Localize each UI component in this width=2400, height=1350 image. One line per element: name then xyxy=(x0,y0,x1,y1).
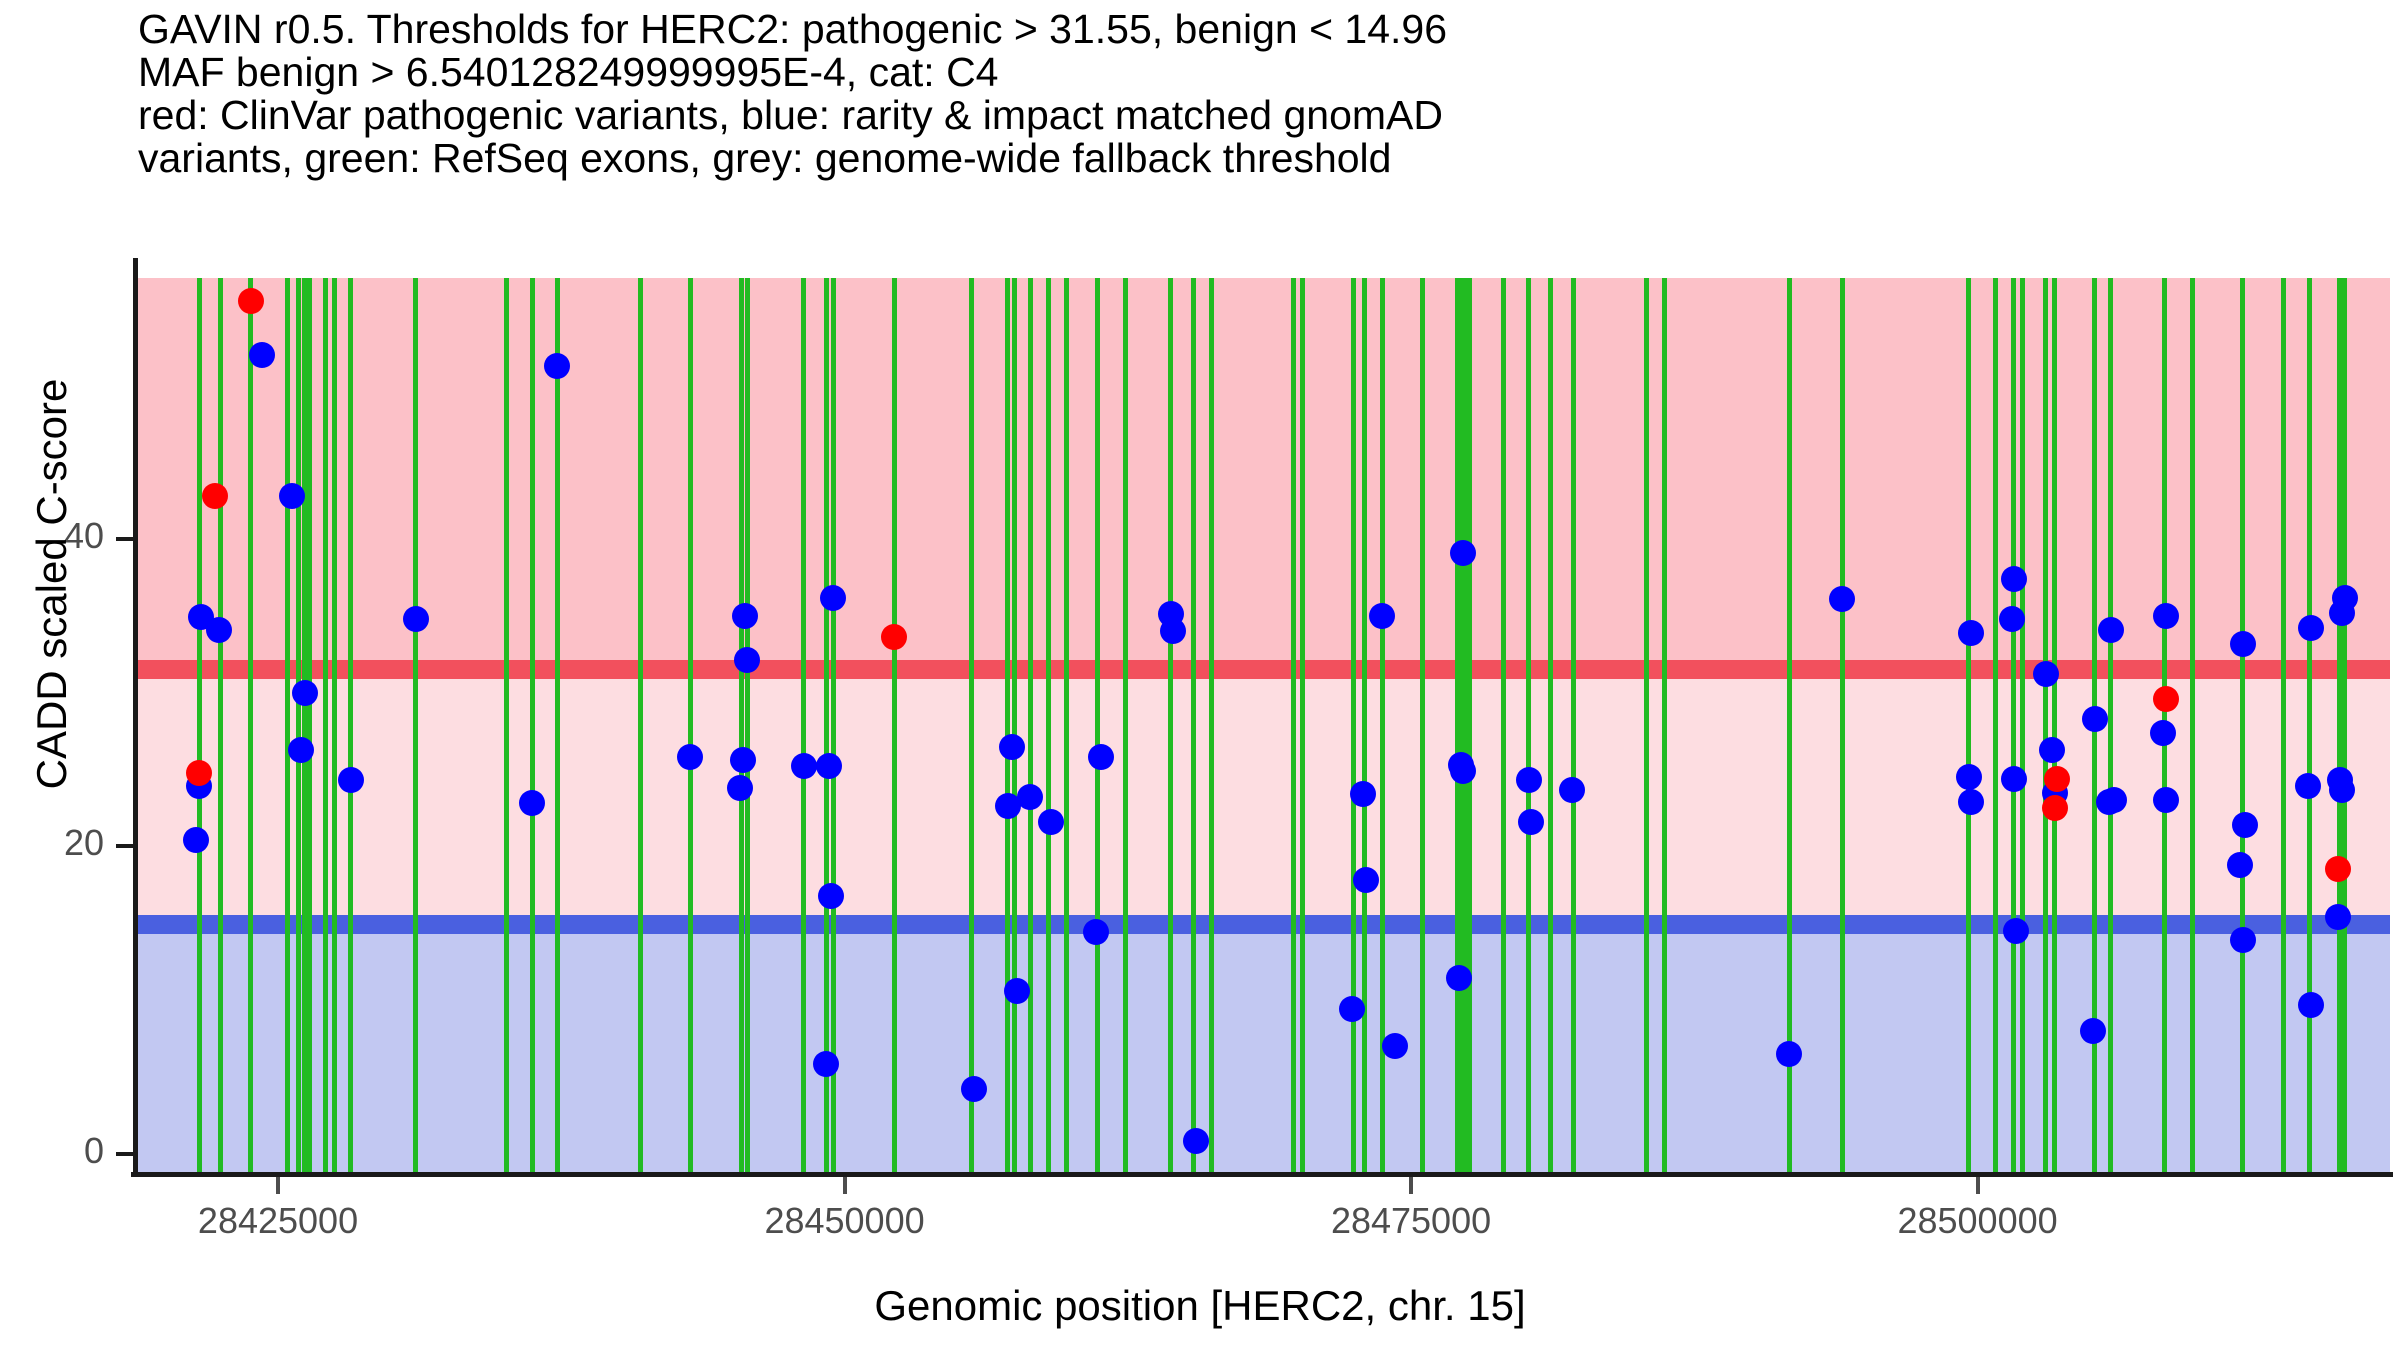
gnomad-variant-point xyxy=(2232,812,2258,838)
gnomad-variant-point xyxy=(999,734,1025,760)
gnomad-variant-point xyxy=(1353,867,1379,893)
y-tick xyxy=(116,844,133,848)
x-tick-label: 28450000 xyxy=(695,1200,995,1242)
gnomad-variant-point xyxy=(1450,540,1476,566)
gnomad-variant-point xyxy=(1999,606,2025,632)
gnomad-variant-point xyxy=(1518,809,1544,835)
y-tick xyxy=(116,537,133,541)
gnomad-variant-point xyxy=(734,647,760,673)
gnomad-variant-point xyxy=(2153,603,2179,629)
x-tick xyxy=(1976,1177,1980,1194)
gnomad-variant-point xyxy=(1958,620,1984,646)
gnomad-variant-point xyxy=(2001,566,2027,592)
gnomad-variant-point xyxy=(1516,767,1542,793)
chart-title-block: GAVIN r0.5. Thresholds for HERC2: pathog… xyxy=(138,8,2288,180)
clinvar-variant-point xyxy=(2044,766,2070,792)
gnomad-variant-point xyxy=(1038,809,1064,835)
gnomad-variant-point xyxy=(727,775,753,801)
gnomad-variant-point xyxy=(1017,784,1043,810)
gnomad-variant-point xyxy=(1450,758,1476,784)
gnomad-variant-point xyxy=(1160,618,1186,644)
clinvar-variant-point xyxy=(881,624,907,650)
x-tick-label: 28475000 xyxy=(1261,1200,1561,1242)
clinvar-variant-point xyxy=(238,288,264,314)
gnomad-variant-point xyxy=(519,790,545,816)
gnomad-variant-point xyxy=(1559,777,1585,803)
gnomad-variant-point xyxy=(2153,787,2179,813)
gnomad-variant-point xyxy=(2329,600,2355,626)
clinvar-variant-point xyxy=(2325,856,2351,882)
gnomad-variant-point xyxy=(2039,737,2065,763)
chart-root: GAVIN r0.5. Thresholds for HERC2: pathog… xyxy=(0,0,2400,1350)
gnomad-variant-point xyxy=(730,747,756,773)
x-tick xyxy=(843,1177,847,1194)
clinvar-variant-point xyxy=(186,760,212,786)
x-tick xyxy=(1409,1177,1413,1194)
gnomad-variant-point xyxy=(1369,603,1395,629)
clinvar-variant-point xyxy=(202,483,228,509)
gnomad-variant-point xyxy=(292,680,318,706)
gnomad-variant-point xyxy=(183,827,209,853)
gnomad-variant-point xyxy=(1183,1128,1209,1154)
gnomad-variant-point xyxy=(206,617,232,643)
gnomad-variant-point xyxy=(2096,789,2122,815)
x-tick-label: 28425000 xyxy=(128,1200,428,1242)
gnomad-variant-point xyxy=(2098,617,2124,643)
x-tick xyxy=(276,1177,280,1194)
gnomad-variant-point xyxy=(1083,919,1109,945)
title-line-4: variants, green: RefSeq exons, grey: gen… xyxy=(138,137,2288,180)
gnomad-variant-point xyxy=(816,753,842,779)
gnomad-variant-point xyxy=(2298,615,2324,641)
gnomad-variant-point xyxy=(2230,631,2256,657)
gnomad-variant-point xyxy=(2298,992,2324,1018)
title-line-3: red: ClinVar pathogenic variants, blue: … xyxy=(138,94,2288,137)
x-axis-line xyxy=(131,1172,2393,1177)
gnomad-variant-point xyxy=(2001,766,2027,792)
variant-points xyxy=(133,278,2390,1172)
gnomad-variant-point xyxy=(1339,996,1365,1022)
gnomad-variant-point xyxy=(1088,744,1114,770)
y-tick xyxy=(116,1152,133,1156)
gnomad-variant-point xyxy=(1829,586,1855,612)
gnomad-variant-point xyxy=(791,753,817,779)
y-axis-line xyxy=(133,258,138,1174)
gnomad-variant-point xyxy=(279,483,305,509)
gnomad-variant-point xyxy=(403,606,429,632)
gnomad-variant-point xyxy=(249,342,275,368)
y-tick-label: 0 xyxy=(0,1130,104,1172)
gnomad-variant-point xyxy=(820,585,846,611)
gnomad-variant-point xyxy=(288,737,314,763)
gnomad-variant-point xyxy=(1446,965,1472,991)
clinvar-variant-point xyxy=(2153,686,2179,712)
gnomad-variant-point xyxy=(544,353,570,379)
y-axis-label: CADD scaled C-score xyxy=(28,264,76,904)
gnomad-variant-point xyxy=(2080,1018,2106,1044)
gnomad-variant-point xyxy=(1958,789,1984,815)
gnomad-variant-point xyxy=(2329,777,2355,803)
gnomad-variant-point xyxy=(2230,927,2256,953)
gnomad-variant-point xyxy=(1382,1033,1408,1059)
gnomad-variant-point xyxy=(338,767,364,793)
gnomad-variant-point xyxy=(2033,661,2059,687)
gnomad-variant-point xyxy=(1956,764,1982,790)
gnomad-variant-point xyxy=(818,883,844,909)
clinvar-variant-point xyxy=(2042,795,2068,821)
gnomad-variant-point xyxy=(961,1076,987,1102)
gnomad-variant-point xyxy=(2082,706,2108,732)
gnomad-variant-point xyxy=(1004,978,1030,1004)
plot-panel xyxy=(133,278,2390,1172)
gnomad-variant-point xyxy=(2003,918,2029,944)
gnomad-variant-point xyxy=(2295,773,2321,799)
gnomad-variant-point xyxy=(677,744,703,770)
gnomad-variant-point xyxy=(1350,781,1376,807)
title-line-1: GAVIN r0.5. Thresholds for HERC2: pathog… xyxy=(138,8,2288,51)
gnomad-variant-point xyxy=(813,1051,839,1077)
gnomad-variant-point xyxy=(2150,720,2176,746)
gnomad-variant-point xyxy=(2325,904,2351,930)
x-tick-label: 28500000 xyxy=(1828,1200,2128,1242)
x-axis-label: Genomic position [HERC2, chr. 15] xyxy=(600,1282,1800,1330)
gnomad-variant-point xyxy=(2227,852,2253,878)
gnomad-variant-point xyxy=(1776,1041,1802,1067)
gnomad-variant-point xyxy=(732,603,758,629)
title-line-2: MAF benign > 6.540128249999995E-4, cat: … xyxy=(138,51,2288,94)
